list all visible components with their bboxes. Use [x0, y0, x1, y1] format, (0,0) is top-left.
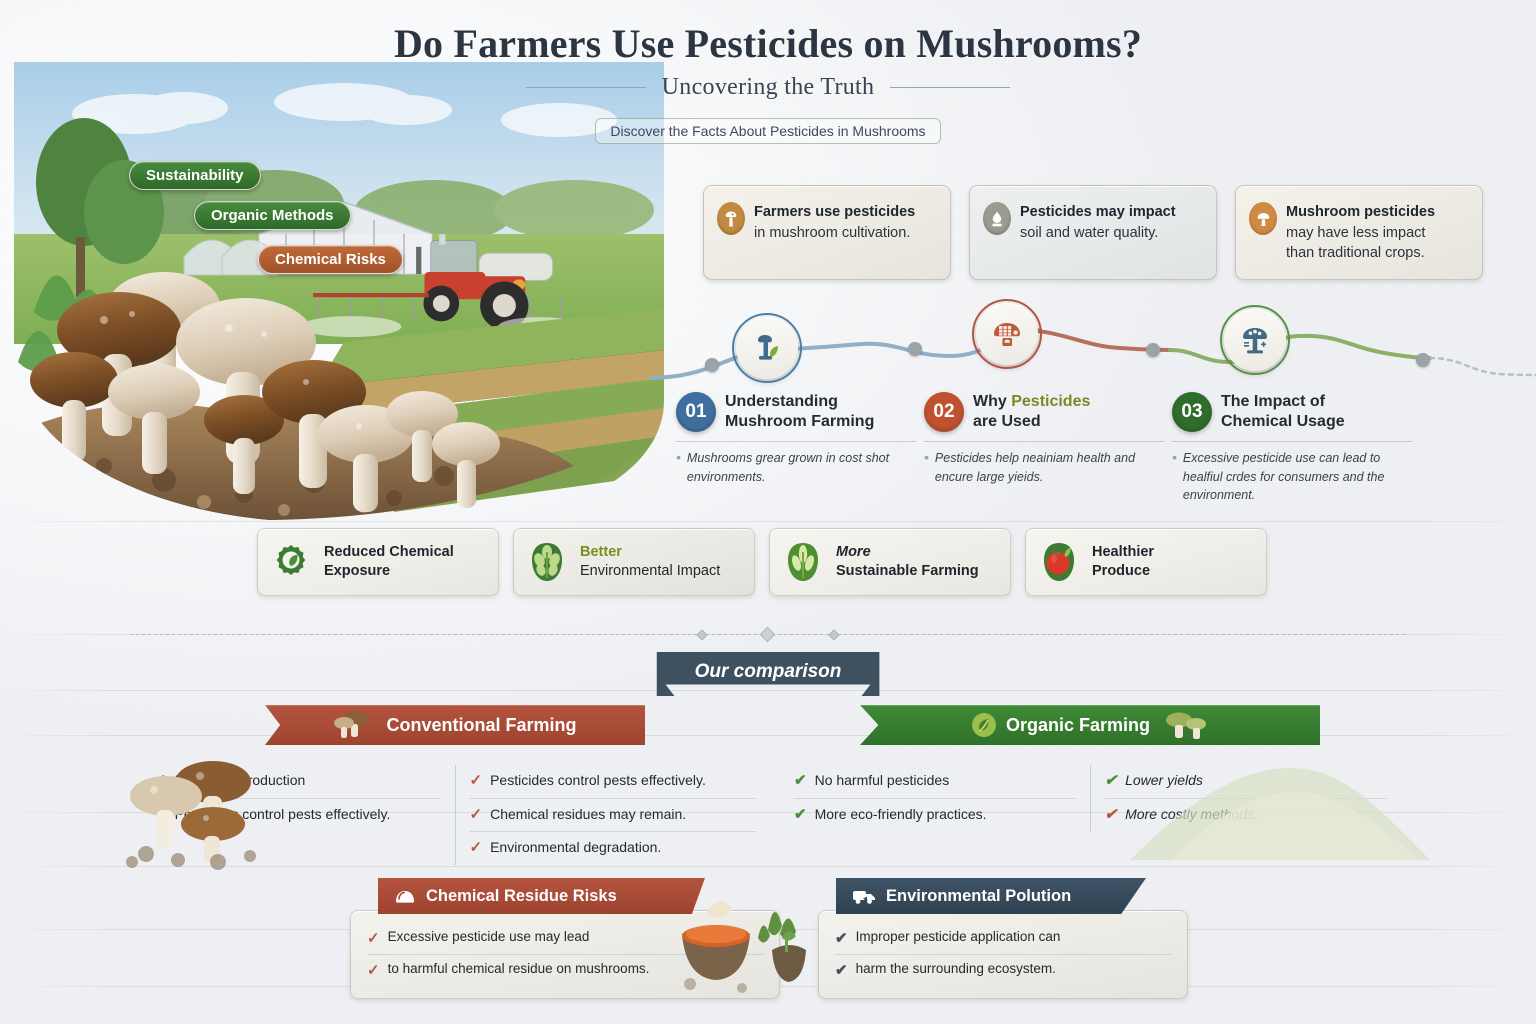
page-subtitle: Uncovering the Truth — [662, 74, 875, 101]
step-number: 01 — [676, 392, 716, 432]
chemical-residue-body: ✓ Excessive pesticide use may lead ✓ to … — [350, 910, 780, 999]
timeline-dot — [1416, 353, 1430, 367]
fact-card-text: Pesticides may impact soil and water qua… — [1020, 202, 1176, 267]
plant-leaves-icon — [524, 539, 570, 585]
conventional-column-a: ✓ High yield production ✓ Pesticides con… — [140, 765, 455, 865]
chemical-residue-header: Chemical Residue Risks — [378, 878, 705, 914]
conventional-farming-title: Conventional Farming — [386, 715, 576, 736]
check-icon: ✔ — [794, 805, 807, 826]
mushroom-spore-icon — [717, 202, 745, 235]
step-body: • Mushrooms grear grown in cost shot env… — [676, 449, 916, 487]
mushroom-icon — [1249, 202, 1277, 235]
risk-item-text: Improper pesticide application can — [856, 928, 1061, 949]
comparison-item: ✔ More costly methods. — [1105, 798, 1387, 832]
check-icon: ✓ — [367, 960, 380, 981]
divider-rule — [0, 521, 1536, 522]
organic-columns: ✔ No harmful pesticides ✔ More eco-frien… — [780, 765, 1400, 831]
mushroom-pair-icon — [1163, 710, 1209, 740]
benefit-text: Better Environmental Impact — [580, 543, 720, 581]
comparison-item-text: More costly methods. — [1125, 805, 1258, 824]
timeline-node-3[interactable] — [1224, 309, 1286, 371]
comparison-item: ✓ Chemical residues may remain. — [470, 798, 757, 832]
timeline-node-1[interactable] — [736, 317, 798, 379]
organic-column-a: ✔ No harmful pesticides ✔ More eco-frien… — [780, 765, 1090, 831]
steps-row: 01 Understanding Mushroom Farming • Mush… — [676, 392, 1412, 505]
organic-farming-title: Organic Farming — [1006, 715, 1150, 736]
step-header: 01 Understanding Mushroom Farming — [676, 392, 916, 433]
comparison-item-text: Pesticides control pests effectively. — [175, 805, 391, 824]
benefit-card[interactable]: Reduced Chemical Exposure — [257, 528, 499, 596]
page-title: Do Farmers Use Pesticides on Mushrooms? — [0, 20, 1536, 67]
environmental-pollution-body: ✔ Improper pesticide application can ✔ h… — [818, 910, 1188, 999]
risk-panel-environmental-pollution: Environmental Polution ✔ Improper pestic… — [818, 878, 1188, 999]
conventional-farming-ribbon: Conventional Farming — [265, 705, 645, 745]
fact-line-2: may have less impact — [1286, 223, 1435, 244]
comparison-item: ✔ More eco-friendly practices. — [794, 798, 1076, 832]
section-ornament — [130, 628, 1406, 640]
benefit-card[interactable]: Healthier Produce — [1025, 528, 1267, 596]
mushroom-cluster-icon — [333, 710, 373, 740]
benefit-text: Healthier Produce — [1092, 543, 1154, 581]
benefit-line-1: Healthier — [1092, 544, 1154, 560]
benefit-line-1: Better — [580, 544, 622, 560]
benefit-line-2: Exposure — [324, 563, 390, 579]
timeline-dot — [908, 342, 922, 356]
benefit-line-2: Environmental Impact — [580, 563, 720, 579]
step-title-line1: Why — [973, 393, 1011, 410]
hero-pill-sustainability[interactable]: Sustainability — [129, 161, 261, 190]
subtitle-row: Uncovering the Truth — [0, 74, 1536, 101]
subtitle-rule-left — [526, 87, 646, 88]
mushroom-tree-icon — [1238, 323, 1272, 357]
step-title-line2: Mushroom Farming — [725, 413, 874, 430]
comparison-item-text: More eco-friendly practices. — [815, 805, 987, 824]
step-number: 03 — [1172, 392, 1212, 432]
organic-farming-ribbon: Organic Farming — [860, 705, 1320, 745]
risk-item: ✔ harm the surrounding ecosystem. — [835, 954, 1171, 986]
risk-item-text: to harmful chemical residue on mushrooms… — [388, 960, 650, 981]
fact-line-1: Pesticides may impact — [1020, 202, 1176, 223]
step-separator — [676, 441, 916, 442]
ornament-diamond-right — [828, 629, 839, 640]
risk-item: ✓ to harmful chemical residue on mushroo… — [367, 954, 763, 986]
fact-card-row: Farmers use pesticides in mushroom culti… — [703, 185, 1483, 280]
step-separator — [924, 441, 1164, 442]
tagline-badge: Discover the Facts About Pesticides in M… — [0, 118, 1536, 144]
step-title: Why Pesticides are Used — [973, 392, 1090, 433]
bullet-dot: • — [676, 449, 681, 487]
check-icon: ✔ — [835, 928, 848, 949]
comparison-panel-organic: Organic Farming ✔ No harmful pesticides … — [780, 705, 1400, 831]
fact-card[interactable]: Pesticides may impact soil and water qua… — [969, 185, 1217, 280]
benefit-card[interactable]: More Sustainable Farming — [769, 528, 1011, 596]
fact-line-2: in mushroom cultivation. — [754, 223, 915, 244]
comparison-banner-text: Our comparison — [695, 661, 842, 687]
sprayer-leaf-icon — [750, 331, 784, 365]
comparison-item-text: Chemical residues may remain. — [490, 805, 686, 824]
check-icon: ✓ — [154, 805, 167, 826]
water-drop-icon — [983, 202, 1011, 235]
check-icon: ✓ — [367, 928, 380, 949]
comparison-item-text: Environmental degradation. — [490, 838, 661, 857]
conventional-column-b: ✓ Pesticides control pests effectively. … — [455, 765, 771, 865]
conventional-columns: ✓ High yield production ✓ Pesticides con… — [140, 765, 770, 865]
step-item[interactable]: 03 The Impact of Chemical Usage • Excess… — [1172, 392, 1412, 505]
gear-leaf-icon — [268, 539, 314, 585]
comparison-item: ✔ Lower yields — [1105, 765, 1387, 798]
check-icon: ✓ — [470, 771, 483, 792]
step-title-line1: The Impact of — [1221, 393, 1325, 410]
chemical-residue-title: Chemical Residue Risks — [426, 887, 617, 906]
step-body-text: Mushrooms grear grown in cost shot envir… — [687, 449, 916, 487]
check-icon: ✔ — [794, 771, 807, 792]
hero-pill-chemical-risks[interactable]: Chemical Risks — [258, 245, 403, 274]
benefit-line-1: Reduced Chemical — [324, 544, 454, 560]
fact-line-2: soil and water quality. — [1020, 223, 1176, 244]
step-header: 03 The Impact of Chemical Usage — [1172, 392, 1412, 433]
fact-line-3: than traditional crops. — [1286, 243, 1435, 264]
timeline-dot — [1146, 343, 1160, 357]
environmental-pollution-title: Environmental Polution — [886, 887, 1071, 906]
comparison-panel-conventional: Conventional Farming ✓ High yield produc… — [140, 705, 770, 865]
ornament-diamond-left — [696, 629, 707, 640]
hero-pill-organic-methods[interactable]: Organic Methods — [194, 201, 351, 230]
step-separator — [1172, 441, 1412, 442]
benefits-row: Reduced Chemical Exposure — [257, 528, 1267, 596]
check-icon: ✔ — [835, 960, 848, 981]
fact-card[interactable]: Mushroom pesticides may have less impact… — [1235, 185, 1483, 280]
step-header: 02 Why Pesticides are Used — [924, 392, 1164, 433]
comparison-item: ✓ Environmental degradation. — [470, 831, 757, 865]
comparison-item: ✔ No harmful pesticides — [794, 765, 1076, 798]
benefit-line-2: Produce — [1092, 563, 1150, 579]
step-item[interactable]: 02 Why Pesticides are Used • Pesticides … — [924, 392, 1164, 505]
infographic-canvas: Sustainability Organic Methods Chemical … — [0, 0, 1536, 1024]
wheat-leaf-icon — [780, 539, 826, 585]
benefit-text: More Sustainable Farming — [836, 543, 979, 581]
comparison-item: ✓ High yield production — [154, 765, 441, 798]
comparison-item-text: Pesticides control pests effectively. — [490, 771, 706, 790]
step-item[interactable]: 01 Understanding Mushroom Farming • Mush… — [676, 392, 916, 505]
timeline-dot — [705, 358, 719, 372]
step-title: The Impact of Chemical Usage — [1221, 392, 1345, 433]
timeline-node-2[interactable] — [976, 303, 1038, 365]
divider-rule — [0, 866, 1536, 867]
step-title-line1: Understanding — [725, 393, 838, 410]
risk-item: ✓ Excessive pesticide use may lead — [367, 923, 763, 954]
check-icon: ✔ — [1105, 771, 1118, 792]
risk-item-text: harm the surrounding ecosystem. — [856, 960, 1056, 981]
subtitle-rule-right — [890, 87, 1010, 88]
benefit-text: Reduced Chemical Exposure — [324, 543, 454, 581]
risk-item-text: Excessive pesticide use may lead — [388, 928, 590, 949]
step-body-text: Pesticides help neainiam health and encu… — [935, 449, 1164, 487]
check-icon: ✓ — [154, 771, 167, 792]
tomato-icon — [1036, 539, 1082, 585]
fact-card[interactable]: Farmers use pesticides in mushroom culti… — [703, 185, 951, 280]
check-icon: ✓ — [470, 838, 483, 859]
benefit-card[interactable]: Better Environmental Impact — [513, 528, 755, 596]
step-title-line2: are Used — [973, 413, 1041, 430]
risk-panel-chemical-residue: Chemical Residue Risks ✓ Excessive pesti… — [350, 878, 780, 999]
truck-spray-icon — [852, 887, 876, 905]
step-body: • Excessive pesticide use can lead to he… — [1172, 449, 1412, 505]
comparison-item-text: High yield production — [175, 771, 306, 790]
divider-rule — [0, 690, 1536, 691]
benefit-line-2: Sustainable Farming — [836, 563, 979, 579]
fact-line-1: Mushroom pesticides — [1286, 202, 1435, 223]
fact-card-text: Farmers use pesticides in mushroom culti… — [754, 202, 915, 267]
step-number: 02 — [924, 392, 964, 432]
hazard-sign-icon — [394, 887, 416, 905]
environmental-pollution-header: Environmental Polution — [836, 878, 1146, 914]
comparison-item: ✓ Pesticides control pests effectively. — [470, 765, 757, 798]
check-icon: ✓ — [470, 805, 483, 826]
risk-item: ✔ Improper pesticide application can — [835, 923, 1171, 954]
fact-line-1: Farmers use pesticides — [754, 202, 915, 223]
comparison-item-text: Lower yields — [1125, 771, 1203, 790]
comparison-item: ✓ Pesticides control pests effectively. — [154, 798, 441, 832]
tagline-text: Discover the Facts About Pesticides in M… — [595, 118, 940, 144]
check-icon: ✔ — [1105, 805, 1118, 826]
comparison-item-text: No harmful pesticides — [815, 771, 950, 790]
fact-card-text: Mushroom pesticides may have less impact… — [1286, 202, 1435, 267]
organic-leaf-badge-icon — [971, 712, 997, 738]
mushroom-house-icon — [990, 317, 1024, 351]
step-title-line2: Chemical Usage — [1221, 413, 1345, 430]
step-body: • Pesticides help neainiam health and en… — [924, 449, 1164, 487]
bullet-dot: • — [924, 449, 929, 487]
organic-column-b: ✔ Lower yields ✔ More costly methods. — [1090, 765, 1401, 831]
step-title: Understanding Mushroom Farming — [725, 392, 874, 433]
benefit-line-1: More — [836, 544, 871, 560]
step-body-text: Excessive pesticide use can lead to heal… — [1183, 449, 1412, 505]
ornament-diamond-center — [760, 627, 776, 643]
bullet-dot: • — [1172, 449, 1177, 505]
step-title-highlight: Pesticides — [1011, 393, 1090, 410]
